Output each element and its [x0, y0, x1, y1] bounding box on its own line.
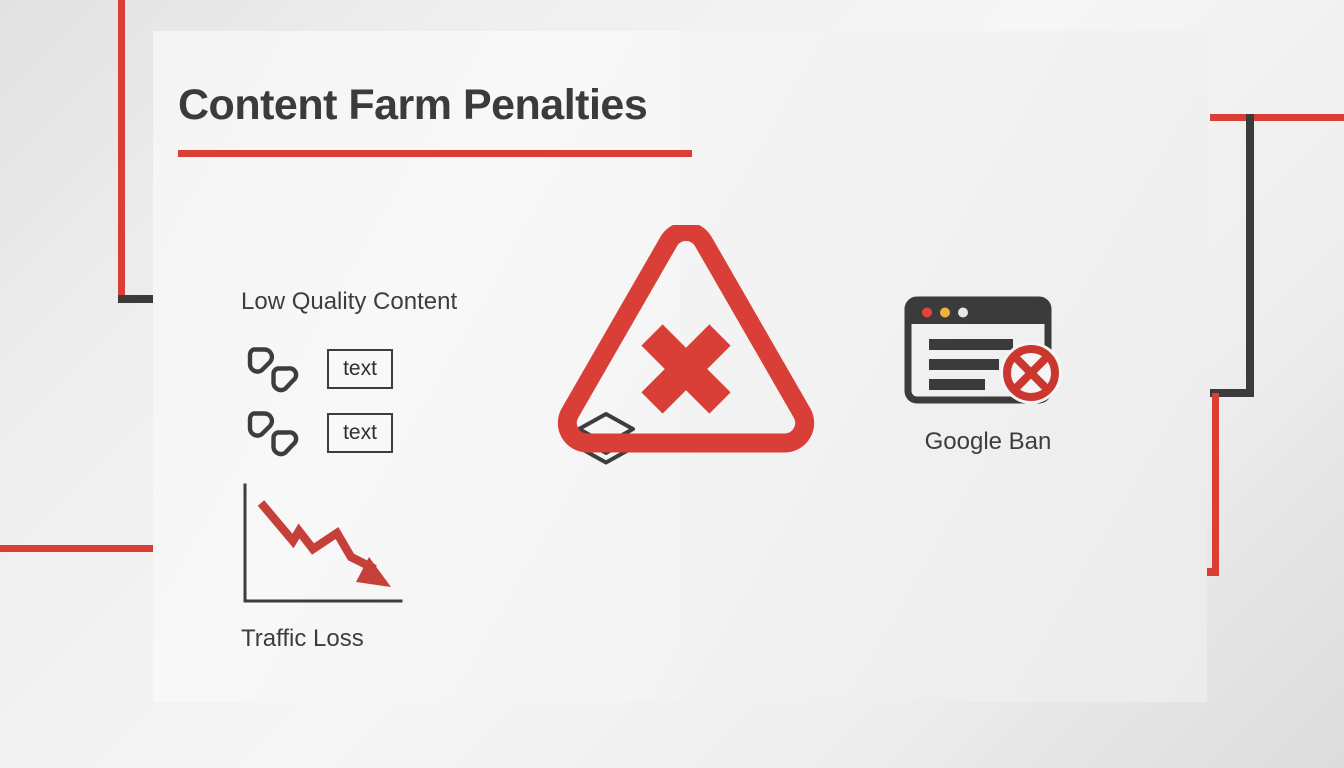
deco-dark-vertical-right: [1246, 114, 1254, 397]
traffic-loss-group: Traffic Loss: [241, 483, 407, 653]
slide-card: Content Farm Penalties Low Quality Conte…: [153, 31, 1207, 702]
content-bar: [929, 379, 985, 390]
deco-dark-horizontal-left: [118, 295, 156, 303]
page-title-text: Content Farm Penalties: [178, 84, 692, 127]
window-dot-yellow: [940, 308, 950, 318]
low-quality-content-label: Low Quality Content: [241, 288, 457, 316]
deco-red-vertical-left: [118, 0, 125, 301]
browser-window-blocked-icon: [903, 294, 1073, 410]
text-box: text: [327, 349, 393, 389]
warning-triangle-x-icon: [556, 225, 816, 457]
traffic-loss-label: Traffic Loss: [241, 625, 407, 653]
broken-link-icon: [243, 343, 305, 395]
content-bar: [929, 339, 1013, 350]
text-box: text: [327, 413, 393, 453]
broken-link-icon: [243, 407, 305, 459]
window-dot-red: [922, 308, 932, 318]
low-quality-row-1: text: [243, 343, 393, 395]
google-ban-group: Google Ban: [898, 294, 1078, 456]
page-title: Content Farm Penalties: [178, 84, 692, 157]
slide-canvas: Content Farm Penalties Low Quality Conte…: [0, 0, 1344, 768]
declining-trend-chart-icon: [241, 483, 407, 609]
title-underline-rule: [178, 150, 692, 157]
low-quality-row-2: text: [243, 407, 393, 459]
low-quality-content-group: Low Quality Content text text: [241, 288, 457, 316]
deco-red-vertical-right: [1212, 393, 1219, 576]
content-bar: [929, 359, 999, 370]
deco-red-horizontal-left: [0, 545, 156, 552]
deco-red-horizontal-top-right: [1210, 114, 1344, 121]
google-ban-label: Google Ban: [898, 428, 1078, 456]
window-dot-white: [958, 308, 968, 318]
